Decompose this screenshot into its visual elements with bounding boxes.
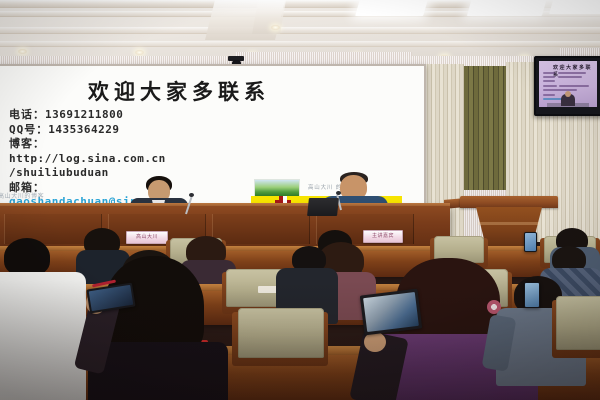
tablet-front-right [360, 289, 422, 336]
ceiling-panel-light [467, 0, 548, 16]
conference-hall-photo: 欢迎大家多联系 电话：13691211800 QQ号：1435364229 博客… [0, 0, 600, 400]
ceiling-panel-light [549, 0, 600, 14]
smartphone-back-right [524, 232, 537, 252]
slide-row: 电话：13691211800 [9, 108, 249, 123]
downlight [18, 49, 27, 54]
microphone-right-head [336, 191, 341, 195]
curtain-dark [464, 66, 508, 190]
slide-heading: 欢迎大家多联系 [88, 76, 270, 106]
wall-monitor-screen: 欢迎大家多联系 [539, 61, 597, 107]
slide-row: QQ号：1435364229 [9, 123, 249, 138]
downlight [135, 50, 144, 55]
downlight [271, 25, 280, 30]
slide-footer-note: 高山大川的博客 [0, 191, 44, 200]
chair [238, 308, 324, 358]
wall-monitor: 欢迎大家多联系 [534, 56, 600, 116]
nameplate-left: 高山大川 [126, 231, 168, 244]
chair [556, 296, 600, 350]
nameplate-right: 主讲嘉宾 [363, 230, 403, 243]
slide-thumbnail-photo [254, 179, 300, 197]
smartphone-right-rear [524, 282, 540, 308]
ceiling-panel-light [355, 0, 429, 16]
slide-row: http://log.sina.com.cn [9, 152, 249, 167]
presenter-laptop [307, 198, 339, 216]
slide-row: 博客： [9, 137, 249, 152]
microphone-left-head [189, 193, 194, 197]
